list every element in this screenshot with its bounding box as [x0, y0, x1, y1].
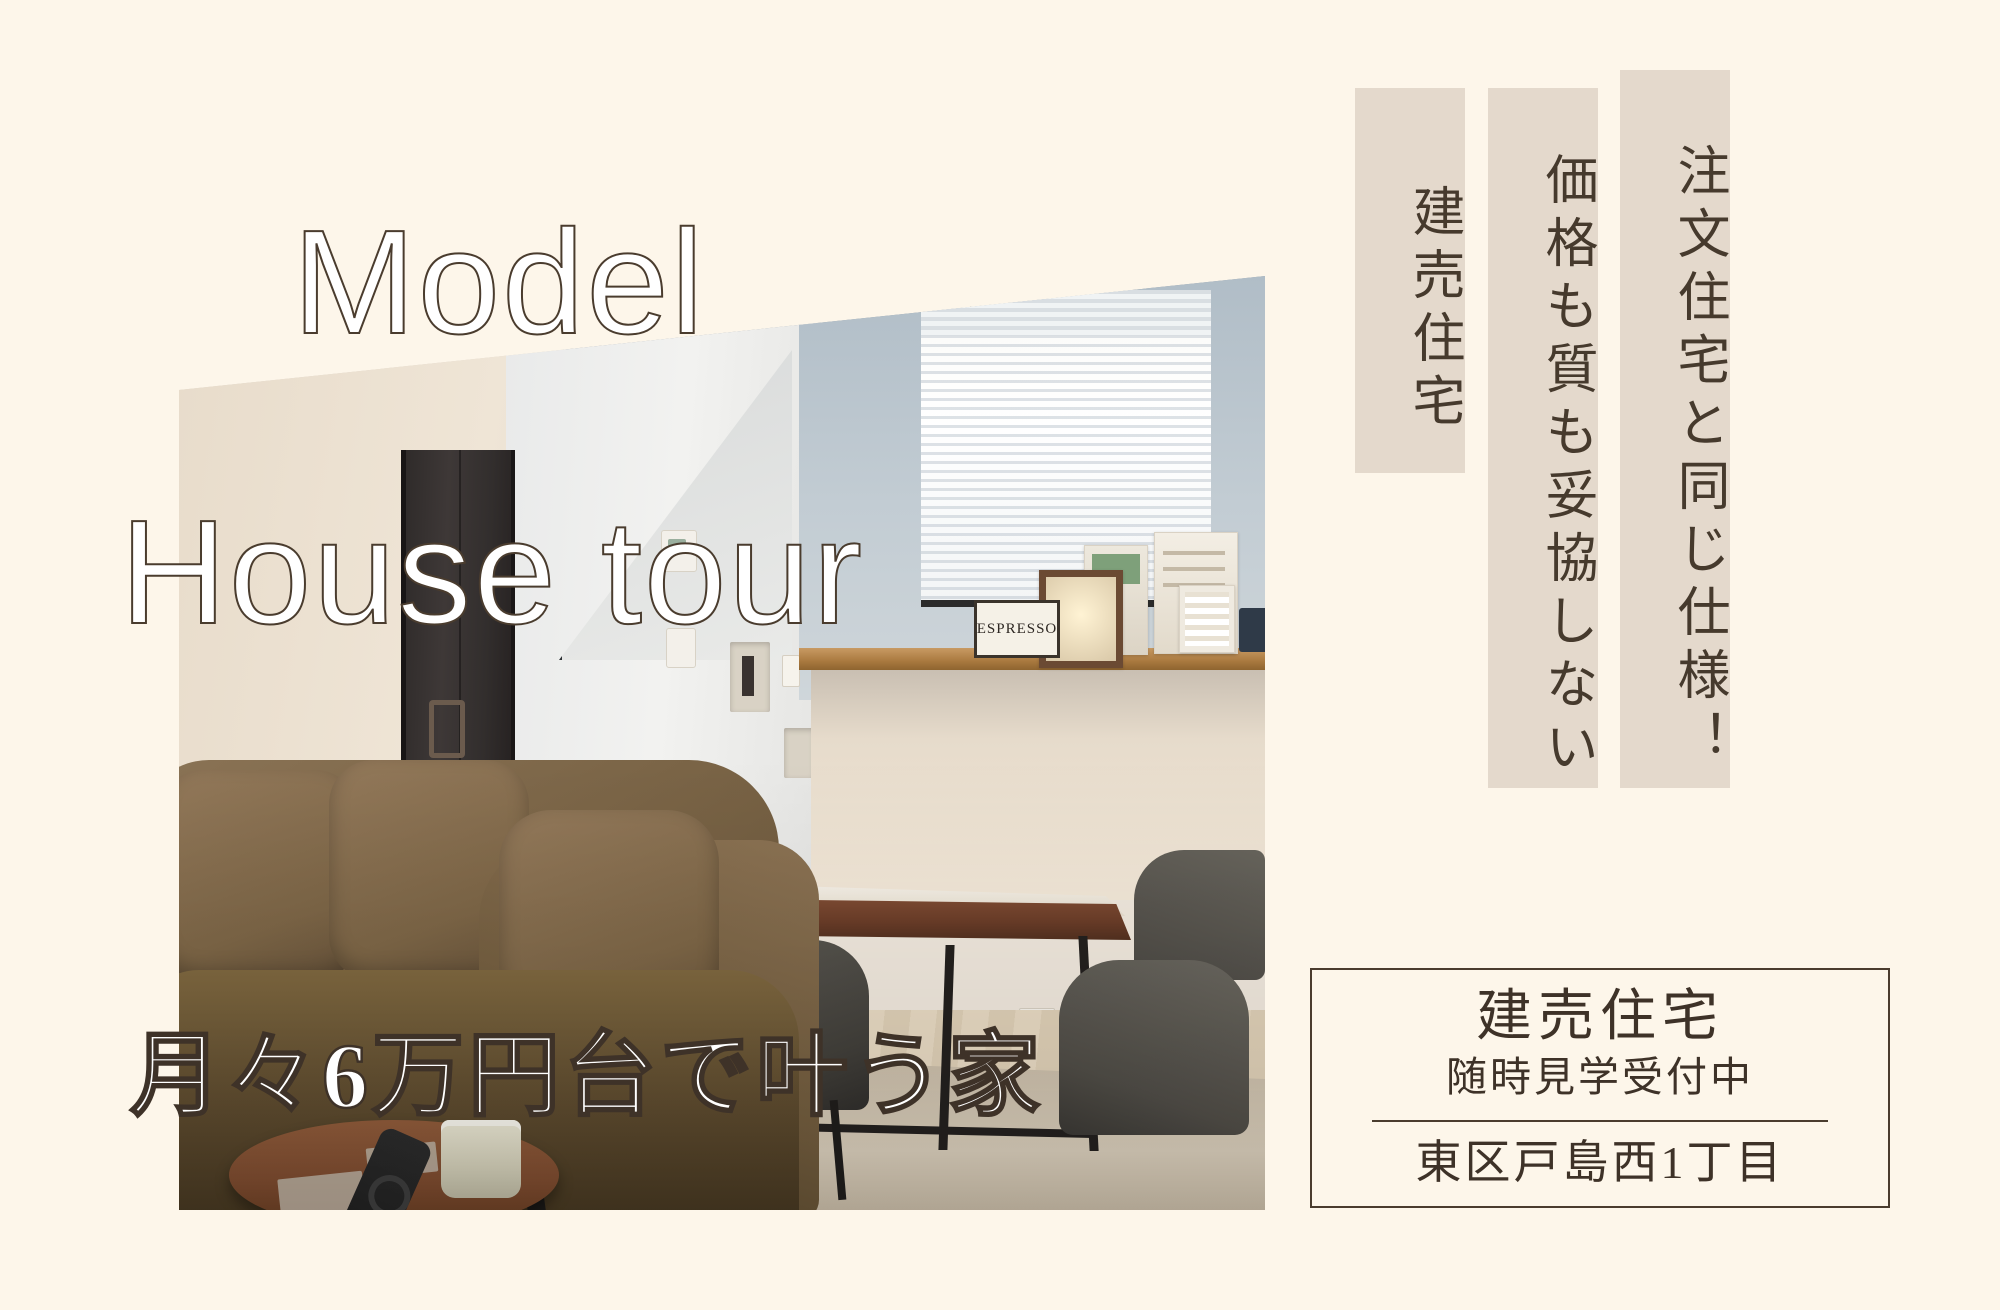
info-box-address: 東区戸島西1丁目	[1416, 1138, 1785, 1189]
headline-line-1: Model	[292, 200, 705, 365]
ceiling-ring	[944, 247, 1000, 260]
feature-panel-3: 注文住宅と同じ仕様！	[1620, 70, 1730, 788]
tagline: 月々6万円台で叶う家	[130, 1030, 1044, 1122]
ceramic-cup	[441, 1120, 521, 1198]
feature-panel-2: 価格も質も妥協しない	[1488, 88, 1598, 788]
info-box-subtitle: 随時見学受付中	[1446, 1055, 1754, 1100]
blind-slats-top	[921, 290, 1211, 336]
feature-panel-1: 建売住宅	[1355, 88, 1465, 473]
counter-device	[1239, 608, 1265, 652]
dining-chair-right	[1059, 960, 1249, 1135]
headline-line-2: House tour	[120, 502, 864, 644]
info-box: 建売住宅 随時見学受付中 東区戸島西1丁目	[1310, 968, 1890, 1208]
espresso-sign: ESPRESSO	[974, 600, 1060, 658]
info-box-divider	[1372, 1120, 1828, 1122]
brochure-leaflet	[1179, 585, 1235, 653]
headline: Model House tour	[120, 70, 864, 928]
info-box-title: 建売住宅	[1476, 987, 1724, 1049]
poster-canvas: ESPRESSO	[0, 0, 2000, 1310]
